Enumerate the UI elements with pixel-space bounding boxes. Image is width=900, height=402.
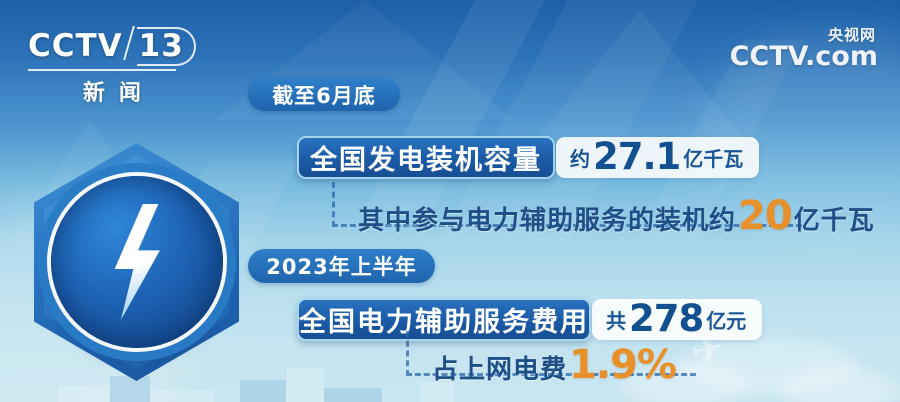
sub-number: 20: [738, 196, 792, 236]
cctv-13-logo: CCTV 13 新闻: [28, 22, 196, 107]
broadcast-graphic-screen: ✈ CCTV 13 新闻 央视网 CCTV.com 截至6月底: [0, 0, 900, 402]
date-pill-first-half: 截至6月底: [248, 78, 400, 111]
logo-channel-number: 13: [137, 27, 196, 66]
logo-underline: [28, 69, 176, 71]
watermark-english-text: CCTV.com: [730, 41, 878, 72]
sub-line-grid-fee-share: 占上网电费 1.9%: [432, 345, 678, 386]
lightning-bolt-icon: [98, 204, 176, 320]
lightning-badge: [34, 143, 239, 381]
building-silhouette: [286, 368, 324, 402]
sub-prefix: 其中参与电力辅助服务的装机约: [358, 200, 736, 237]
logo-subtitle: 新闻: [28, 75, 196, 107]
building-silhouette: [150, 390, 214, 402]
watermark-brand: CCTV: [730, 41, 805, 72]
badge-disc: [51, 176, 223, 348]
value-prefix: 约: [570, 143, 590, 172]
cctv-com-watermark: 央视网 CCTV.com: [730, 24, 878, 72]
watermark-suffix: .com: [805, 41, 878, 72]
caption-installed-capacity: 全国发电装机容量: [297, 136, 555, 179]
value-unit: 亿千瓦: [683, 143, 743, 172]
sub-number: 1.9%: [569, 345, 676, 385]
date-pill-2023-h1: 2023年上半年: [248, 249, 435, 283]
logo-slash: [123, 26, 135, 60]
sub-unit: 亿千瓦: [794, 200, 875, 237]
value-installed-capacity: 约 27.1 亿千瓦: [556, 137, 759, 178]
building-silhouette: [324, 388, 382, 402]
cloud-shape-3: [780, 368, 900, 402]
value-prefix: 共: [606, 305, 626, 334]
logo-row-brand: CCTV 13: [28, 22, 196, 66]
logo-brand-text: CCTV: [28, 28, 123, 64]
building-silhouette: [240, 380, 286, 402]
building-silhouette: [58, 386, 110, 402]
value-unit: 亿元: [706, 305, 746, 334]
sub-prefix: 占上网电费: [432, 349, 567, 386]
sub-line-auxiliary-capacity: 其中参与电力辅助服务的装机约 20 亿千瓦: [358, 196, 875, 237]
value-number: 27.1: [593, 138, 680, 175]
